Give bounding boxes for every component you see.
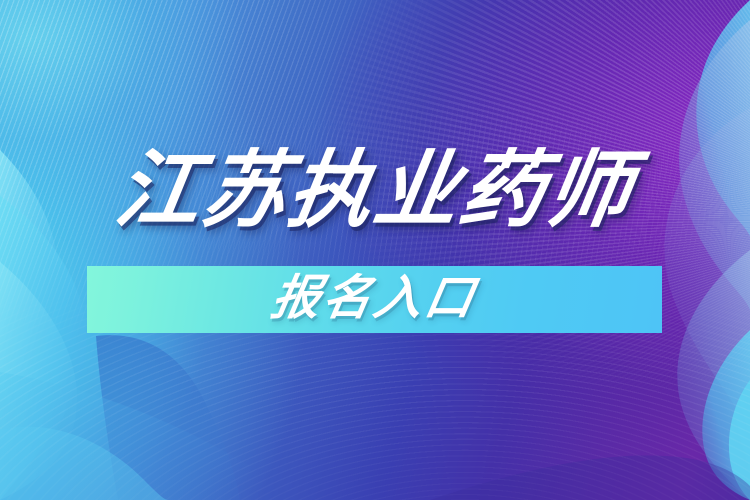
- promo-banner: 江苏执业药师 报名入口: [0, 0, 750, 500]
- texture-streaks-behind-title: [0, 0, 750, 500]
- registration-entry-button[interactable]: 报名入口: [87, 266, 662, 333]
- registration-entry-label: 报名入口: [268, 275, 480, 323]
